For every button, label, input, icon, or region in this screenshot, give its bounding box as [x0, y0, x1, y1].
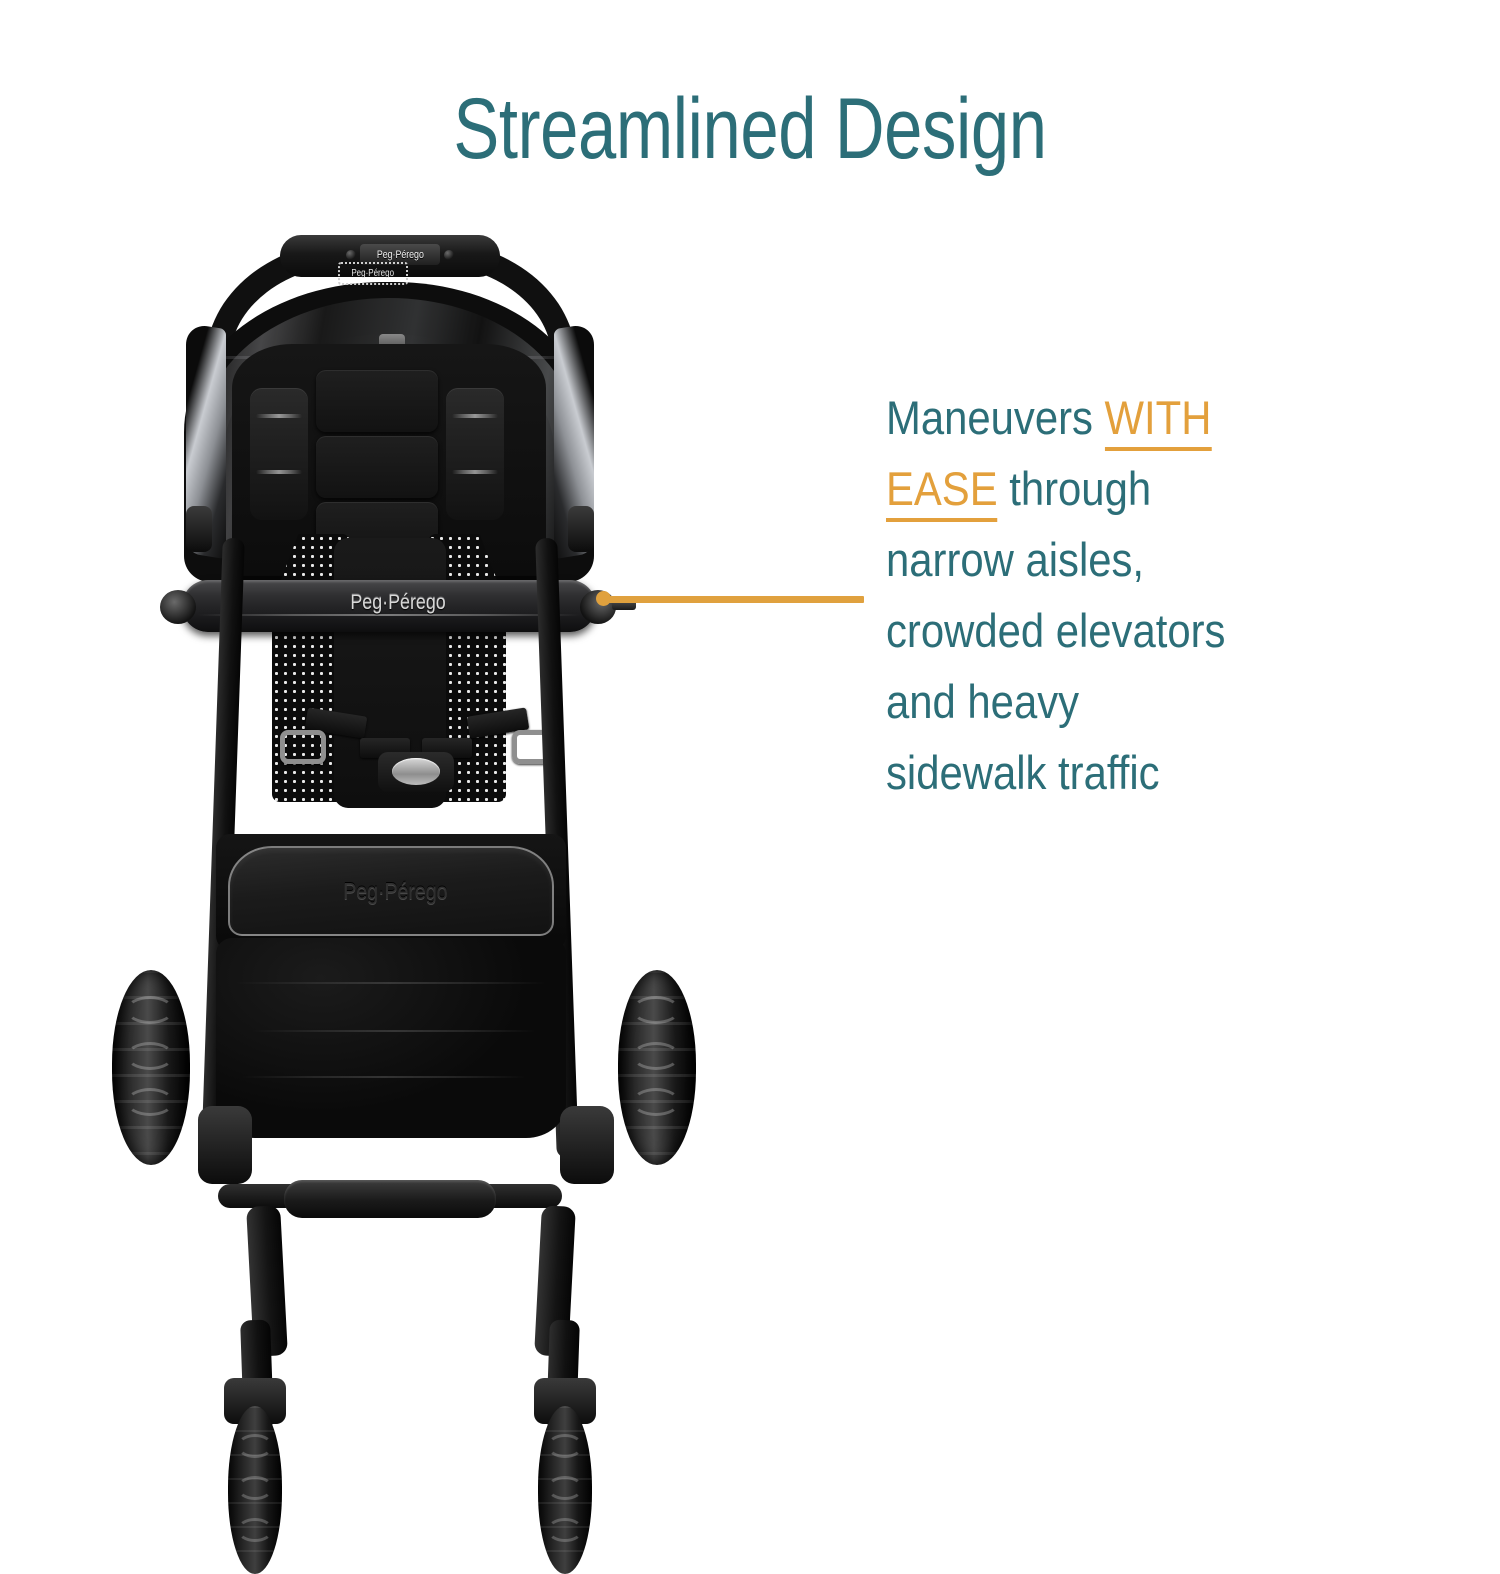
- callout-leader-line: [596, 591, 864, 605]
- front-wheel-right: [538, 1406, 592, 1574]
- storage-basket: [216, 938, 566, 1138]
- tire-tread: [126, 1042, 174, 1070]
- callout-line-1-text: Maneuvers: [886, 391, 1105, 444]
- footmuff-brand-text: Peg·Pérego: [343, 878, 447, 905]
- tire-tread: [237, 1476, 273, 1500]
- callout-line-2-text: through: [998, 462, 1151, 515]
- pad-seam: [452, 414, 498, 418]
- callout-text-block: Maneuvers WITH EASE through narrow aisle…: [886, 382, 1331, 808]
- seat-brand-text: Peg·Pérego: [352, 268, 395, 279]
- shoulder-pad-left: [250, 388, 308, 520]
- canopy-hinge-left: [186, 506, 212, 552]
- tire-tread: [632, 1088, 680, 1116]
- callout-line-1: Maneuvers WITH: [886, 382, 1331, 453]
- canopy-hinge-right: [568, 506, 594, 552]
- page-title: Streamlined Design: [150, 86, 1350, 172]
- callout-line-2: EASE through: [886, 453, 1331, 524]
- harness-adjuster-left: [280, 730, 326, 764]
- footrest-bar: [284, 1180, 496, 1218]
- tire-tread: [237, 1434, 273, 1458]
- marketing-image: Streamlined Design Peg·Pérego Peg·Pérego: [0, 0, 1500, 1500]
- tire-tread: [126, 996, 174, 1024]
- pad-seam: [256, 470, 302, 474]
- bumper-brand-label: Peg·Pérego: [318, 590, 478, 616]
- harness-buckle: [392, 758, 440, 785]
- callout-line-3: narrow aisles,: [886, 524, 1331, 595]
- rear-hub-left: [198, 1106, 252, 1184]
- pad-seam: [452, 470, 498, 474]
- seat-quilt-panel: [316, 436, 438, 498]
- leader-bar: [606, 596, 864, 603]
- callout-line-4: crowded elevators: [886, 595, 1331, 666]
- tire-tread: [126, 1088, 174, 1116]
- tire-tread: [547, 1434, 583, 1458]
- tire-tread: [237, 1518, 273, 1542]
- front-wheel-left: [228, 1406, 282, 1574]
- handlebar-screw-right: [444, 250, 454, 260]
- basket-fold: [252, 1030, 536, 1032]
- tire-tread: [547, 1476, 583, 1500]
- tire-tread: [632, 1042, 680, 1070]
- callout-line-6: sidewalk traffic: [886, 737, 1331, 808]
- handlebar-screw-left: [346, 250, 356, 260]
- rear-wheel-left: [112, 970, 190, 1165]
- basket-fold: [236, 982, 546, 984]
- rear-hub-right: [560, 1106, 614, 1184]
- bumper-pivot-left: [160, 590, 196, 624]
- tire-tread: [632, 996, 680, 1024]
- rear-wheel-right: [618, 970, 696, 1165]
- bumper-brand-text: Peg·Pérego: [350, 591, 445, 615]
- seat-quilt-panel: [316, 370, 438, 432]
- basket-fold: [242, 1076, 526, 1078]
- callout-line-5: and heavy: [886, 666, 1331, 737]
- product-photo-stroller: Peg·Pérego Peg·Pérego: [120, 238, 700, 1500]
- footmuff-brand-label: Peg·Pérego: [300, 876, 490, 906]
- tire-tread: [547, 1518, 583, 1542]
- pad-seam: [256, 414, 302, 418]
- handlebar-brand-text: Peg·Pérego: [377, 249, 424, 261]
- callout-emphasis-with: WITH: [1105, 391, 1212, 451]
- shoulder-pad-right: [446, 388, 504, 520]
- seat-brand-tag: Peg·Pérego: [338, 262, 408, 285]
- callout-emphasis-ease: EASE: [886, 462, 998, 522]
